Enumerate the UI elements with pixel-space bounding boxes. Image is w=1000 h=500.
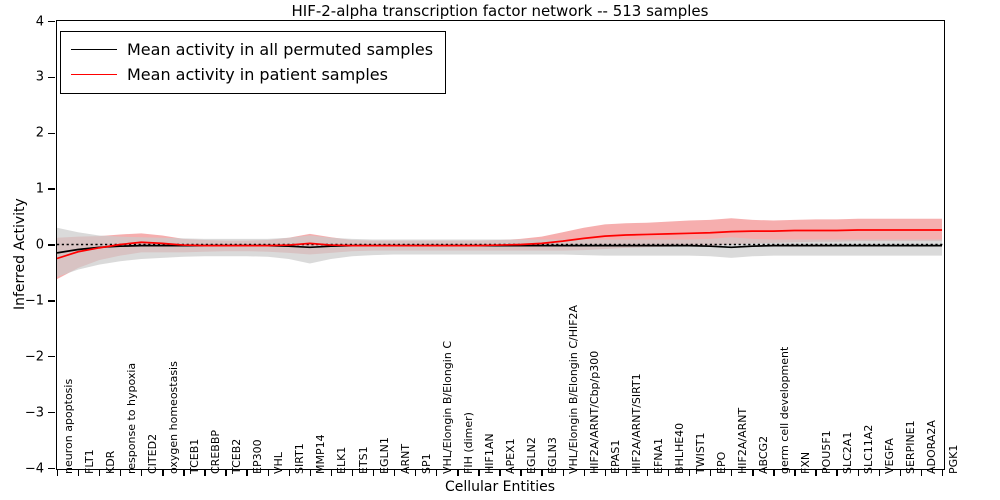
x-tick-mark [78,470,79,476]
legend-item-permuted: Mean activity in all permuted samples [71,37,433,62]
x-tick-mark [731,470,732,476]
x-tick-mark [900,470,901,476]
legend-swatch-patient [71,74,117,75]
x-tick-label: SP1 [420,453,433,474]
x-tick-label: HIF2A/ARNT [736,408,749,474]
x-tick-mark [57,470,58,476]
y-tick-label: −3 [25,405,44,420]
x-tick-label: FXN [799,452,812,474]
x-tick-mark [879,470,880,476]
x-tick-label: VHL/Elongin B/Elongin C [441,341,454,474]
x-tick-label: TCEB2 [230,439,243,474]
y-tick-label: 4 [36,14,44,29]
chart-legend: Mean activity in all permuted samples Me… [60,31,446,94]
page-title: HIF-2-alpha transcription factor network… [0,2,1000,20]
x-tick-mark [141,470,142,476]
x-tick-label: SLC2A1 [841,432,854,474]
y-tick-mark [48,468,55,469]
x-tick-mark [268,470,269,476]
x-tick-label: APEX1 [504,438,517,474]
x-tick-mark [520,470,521,476]
x-tick-label: MMP14 [314,434,327,474]
x-tick-label: PGK1 [947,445,960,474]
x-tick-mark [415,470,416,476]
x-tick-mark [794,470,795,476]
x-tick-label: EFNA1 [652,438,665,474]
x-tick-label: VHL [272,452,285,474]
y-tick-label: 3 [36,70,44,85]
x-tick-mark [563,470,564,476]
x-tick-mark [773,470,774,476]
x-tick-label: BHLHE40 [673,423,686,474]
x-tick-mark [836,470,837,476]
figure-canvas: HIF-2-alpha transcription factor network… [0,0,1000,500]
x-tick-label: EGLN2 [525,437,538,474]
x-tick-label: VEGFA [883,438,896,474]
x-tick-mark [204,470,205,476]
x-tick-mark [120,470,121,476]
x-tick-label: SLC11A2 [862,425,875,474]
x-tick-mark [225,470,226,476]
x-tick-mark [689,470,690,476]
y-tick-mark [48,21,55,22]
x-tick-label: EPAS1 [609,440,622,474]
x-tick-label: neuron apoptosis [62,379,75,474]
y-axis: 43210−1−2−3−4 [0,0,56,500]
x-tick-mark [752,470,753,476]
x-tick-mark [541,470,542,476]
x-tick-label: TWIST1 [694,432,707,474]
legend-swatch-permuted [71,49,117,50]
x-tick-label: ELK1 [335,447,348,474]
x-tick-mark [858,470,859,476]
x-tick-label: SIRT1 [293,443,306,474]
x-tick-label: response to hypoxia [125,363,138,474]
y-axis-label: Inferred Activity [12,198,28,310]
y-tick-label: 0 [36,238,44,253]
x-tick-label: oxygen homeostasis [167,361,180,474]
x-tick-mark [499,470,500,476]
x-tick-mark [478,470,479,476]
y-tick-mark [48,133,55,134]
y-tick-mark [48,356,55,357]
x-tick-label: ADORA2A [925,420,938,474]
x-tick-mark [668,470,669,476]
x-axis-label: Cellular Entities [0,479,1000,495]
x-tick-mark [710,470,711,476]
legend-item-patient: Mean activity in patient samples [71,62,433,87]
x-tick-mark [942,470,943,476]
y-tick-mark [48,300,55,301]
y-tick-label: 1 [36,182,44,197]
x-tick-mark [394,470,395,476]
x-tick-label: HIF2A/ARNT/Cbp/p300 [588,351,601,474]
y-tick-mark [48,77,55,78]
x-tick-label: EPO [715,452,728,474]
x-tick-label: TCEB1 [188,439,201,474]
x-tick-mark [310,470,311,476]
x-tick-mark [457,470,458,476]
y-tick-label: −4 [25,461,44,476]
x-tick-mark [626,470,627,476]
y-tick-mark [48,244,55,245]
x-tick-label: CREBBP [209,430,222,474]
legend-label-patient: Mean activity in patient samples [127,65,388,84]
x-tick-mark [99,470,100,476]
y-tick-mark [48,412,55,413]
y-tick-mark [48,188,55,189]
x-tick-label: KDR [104,451,117,474]
x-tick-mark [289,470,290,476]
x-tick-label: ARNT [399,444,412,474]
x-tick-label: EP300 [251,439,264,474]
x-tick-mark [183,470,184,476]
x-tick-label: SERPINE1 [904,420,917,474]
x-tick-mark [162,470,163,476]
x-tick-label: EGLN3 [546,437,559,474]
x-tick-label: VHL/Elongin B/Elongin C/HIF2A [567,305,580,474]
x-tick-mark [584,470,585,476]
x-tick-mark [647,470,648,476]
x-tick-label: CITED2 [146,434,159,474]
x-tick-label: ETS1 [357,446,370,474]
x-tick-mark [373,470,374,476]
x-tick-mark [246,470,247,476]
x-tick-mark [436,470,437,476]
x-tick-mark [605,470,606,476]
x-tick-mark [815,470,816,476]
x-tick-label: germ cell development [778,347,791,474]
x-tick-mark [331,470,332,476]
y-tick-label: 2 [36,126,44,141]
x-tick-label: HIF2A/ARNT/SIRT1 [630,373,643,474]
x-tick-label: FLT1 [83,449,96,474]
x-tick-mark [352,470,353,476]
x-tick-label: POU5F1 [820,430,833,474]
x-tick-label: FIH (dimer) [462,412,475,474]
legend-label-permuted: Mean activity in all permuted samples [127,40,433,59]
x-tick-label: ABCG2 [757,436,770,474]
x-tick-label: EGLN1 [378,437,391,474]
x-tick-label: HIF1AN [483,433,496,474]
x-tick-mark [921,470,922,476]
y-tick-label: −2 [25,349,44,364]
